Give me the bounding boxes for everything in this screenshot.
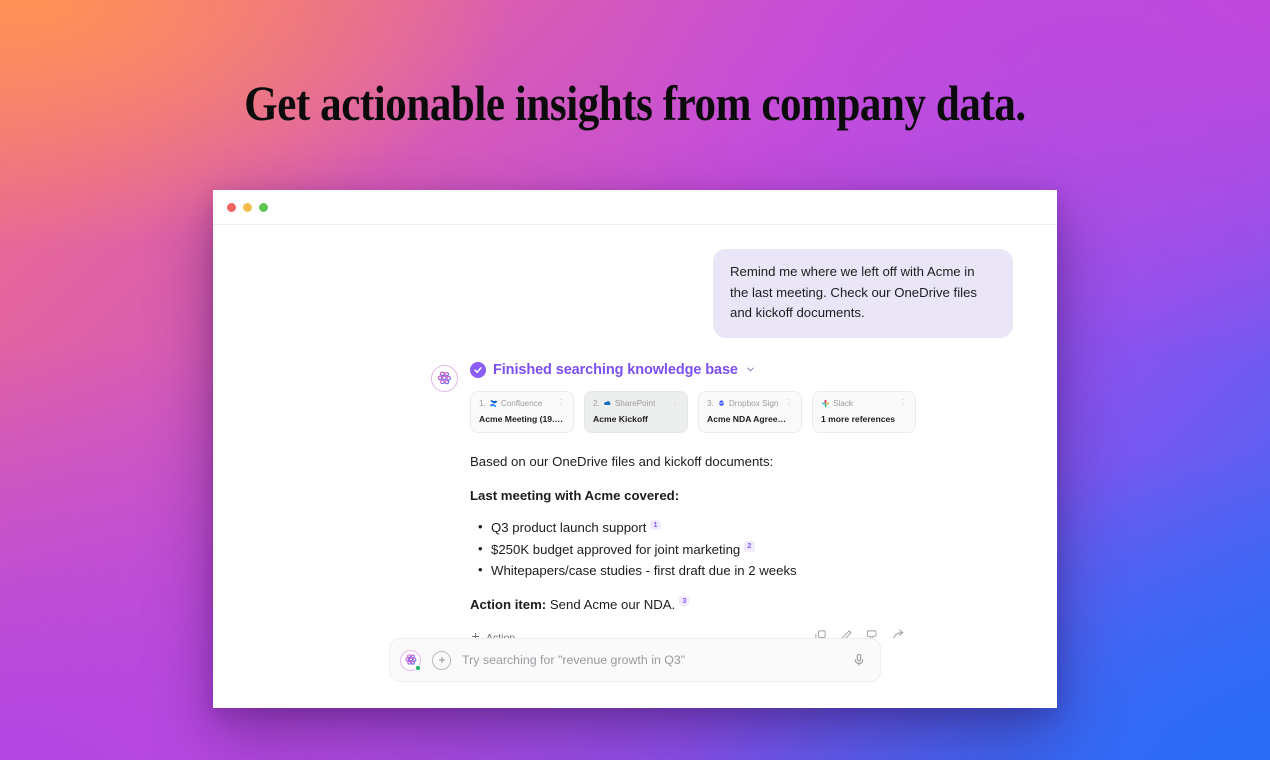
composer-bar[interactable]: Try searching for "revenue growth in Q3" xyxy=(389,638,881,682)
composer-avatar[interactable] xyxy=(400,650,421,671)
composer: Try searching for "revenue growth in Q3" xyxy=(389,638,881,682)
assistant-message: Finished searching knowledge base 1. xyxy=(431,338,1057,648)
source-card-header: Slack ⋮ xyxy=(821,399,907,408)
source-card-header: 1. Confluence ⋮ xyxy=(479,399,565,408)
citation-badge[interactable]: 2 xyxy=(744,541,754,551)
source-card-menu-icon[interactable]: ⋮ xyxy=(781,399,793,407)
assistant-avatar xyxy=(431,365,458,392)
knowledge-base-status-label: Finished searching knowledge base xyxy=(493,362,738,378)
citation-badge[interactable]: 1 xyxy=(650,520,660,530)
source-card-title: Acme Meeting (19.09) xyxy=(479,414,565,424)
chat-content: Remind me where we left off with Acme in… xyxy=(213,225,1057,708)
answer-bullet-list: Q3 product launch support1 $250K budget … xyxy=(470,517,916,581)
assistant-body: Finished searching knowledge base 1. xyxy=(470,362,916,648)
chevron-down-icon[interactable] xyxy=(745,364,756,375)
knowledge-base-status[interactable]: Finished searching knowledge base xyxy=(470,362,916,378)
source-card-slack[interactable]: Slack ⋮ 1 more references xyxy=(812,391,916,433)
source-card-source: SharePoint xyxy=(615,399,656,408)
app-logo-icon xyxy=(436,370,453,387)
source-card-menu-icon[interactable]: ⋮ xyxy=(553,399,565,407)
app-window: Remind me where we left off with Acme in… xyxy=(213,190,1057,708)
share-icon[interactable] xyxy=(892,628,906,647)
action-item-text: Send Acme our NDA. xyxy=(550,597,675,612)
source-card-header: 3. Dropbox Sign ⋮ xyxy=(707,399,793,408)
answer-action-item: Action item: Send Acme our NDA.3 xyxy=(470,595,916,615)
close-window-button[interactable] xyxy=(227,203,236,212)
dropbox-sign-icon xyxy=(717,399,726,408)
window-titlebar xyxy=(213,190,1057,225)
assistant-answer: Based on our OneDrive files and kickoff … xyxy=(470,452,916,615)
citation-badge[interactable]: 3 xyxy=(679,596,689,606)
sharepoint-icon xyxy=(603,399,612,408)
source-card-source: Confluence xyxy=(501,399,542,408)
source-card-index: 3. xyxy=(707,399,714,408)
user-message-row: Remind me where we left off with Acme in… xyxy=(213,225,1057,338)
slack-icon xyxy=(821,399,830,408)
source-card-title: Acme Kickoff xyxy=(593,414,679,424)
answer-section-heading: Last meeting with Acme covered: xyxy=(470,486,916,506)
source-card-source: Slack xyxy=(833,399,853,408)
source-card-menu-icon[interactable]: ⋮ xyxy=(895,399,907,407)
check-circle-icon xyxy=(470,362,486,378)
source-card-index: 1. xyxy=(479,399,486,408)
list-item: Whitepapers/case studies - first draft d… xyxy=(470,560,916,581)
search-input[interactable]: Try searching for "revenue growth in Q3" xyxy=(462,653,841,667)
microphone-icon[interactable] xyxy=(852,653,866,667)
list-item: Q3 product launch support1 xyxy=(470,517,916,538)
list-item: $250K budget approved for joint marketin… xyxy=(470,539,916,560)
source-card-list: 1. Confluence ⋮ Acme Meeting (19.09) xyxy=(470,391,916,433)
plus-circle-icon xyxy=(437,655,447,665)
answer-intro: Based on our OneDrive files and kickoff … xyxy=(470,452,916,472)
source-card-sharepoint[interactable]: 2. SharePoint ⋮ Acme Kickoff xyxy=(584,391,688,433)
zoom-window-button[interactable] xyxy=(259,203,268,212)
source-card-header: 2. SharePoint ⋮ xyxy=(593,399,679,408)
list-item-text: Q3 product launch support xyxy=(491,520,646,535)
source-card-title: 1 more references xyxy=(821,414,907,424)
user-message-bubble: Remind me where we left off with Acme in… xyxy=(713,249,1013,338)
attach-button[interactable] xyxy=(432,651,451,670)
minimize-window-button[interactable] xyxy=(243,203,252,212)
status-indicator-dot xyxy=(415,665,421,671)
source-card-index: 2. xyxy=(593,399,600,408)
source-card-source: Dropbox Sign xyxy=(729,399,779,408)
page-title: Get actionable insights from company dat… xyxy=(89,74,1181,132)
action-item-label: Action item: xyxy=(470,597,546,612)
list-item-text: Whitepapers/case studies - first draft d… xyxy=(491,563,797,578)
confluence-icon xyxy=(489,399,498,408)
list-item-text: $250K budget approved for joint marketin… xyxy=(491,542,740,557)
source-card-title: Acme NDA Agreement xyxy=(707,414,793,424)
source-card-menu-icon[interactable]: ⋮ xyxy=(667,399,679,407)
source-card-confluence[interactable]: 1. Confluence ⋮ Acme Meeting (19.09) xyxy=(470,391,574,433)
source-card-dropbox-sign[interactable]: 3. Dropbox Sign ⋮ Acme NDA Agreement xyxy=(698,391,802,433)
